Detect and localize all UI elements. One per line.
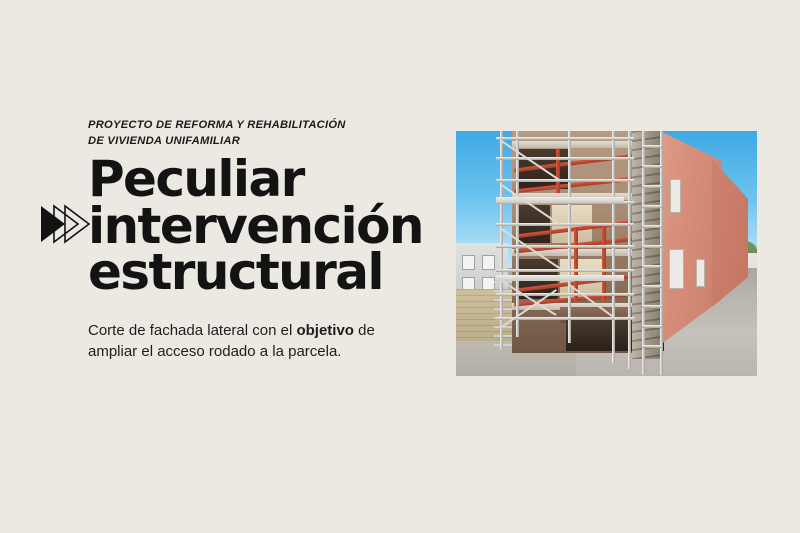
ladder-rung — [642, 325, 662, 328]
scaffold-ledger — [496, 179, 634, 182]
eyebrow-kicker: PROYECTO DE REFORMA Y REHABILITACIÓN DE … — [88, 118, 350, 150]
scaffold-ledger — [496, 245, 634, 248]
scaffold-upright — [628, 131, 631, 369]
ladder-rung — [642, 245, 662, 248]
ladder-rung — [642, 145, 662, 148]
scaffold-ledger — [496, 293, 634, 296]
ladder-rung — [642, 165, 662, 168]
ladder-rung — [642, 225, 662, 228]
ladder-rung — [642, 265, 662, 268]
scaffold-upright — [568, 131, 571, 343]
text-column: PROYECTO DE REFORMA Y REHABILITACIÓN DE … — [40, 118, 430, 363]
shoring-prop — [556, 149, 560, 193]
floor-slab — [512, 141, 638, 148]
ladder-rung — [642, 185, 662, 188]
body-line-2: ampliar el acceso rodado a la parcela. — [88, 341, 418, 362]
scaffold-ledger — [496, 269, 634, 272]
scaffold-ledger — [496, 137, 634, 140]
page-title: Peculiar intervención estructural — [88, 156, 430, 296]
ladder-rung — [642, 345, 662, 348]
ladder-rung — [642, 285, 662, 288]
scaffold-upright — [516, 131, 519, 337]
ladder-rung — [642, 205, 662, 208]
body-line-1-suffix: de — [354, 322, 375, 339]
scaffold-ledger — [496, 157, 634, 160]
building-window — [670, 179, 681, 213]
body-line-1-prefix: Corte de fachada lateral con el — [88, 322, 296, 339]
building-window — [696, 259, 705, 287]
scaffold-ledger — [496, 223, 634, 226]
scaffold-platform — [496, 197, 624, 203]
headline-row: Peculiar intervención estructural — [40, 156, 430, 296]
ladder-rung — [642, 305, 662, 308]
neighbour-window — [462, 255, 475, 270]
photo-illustration — [456, 131, 757, 376]
triple-chevron-right-icon — [40, 203, 90, 245]
body-copy: Corte de fachada lateral con el objetivo… — [88, 320, 418, 363]
shoring-prop — [602, 227, 606, 301]
building-window — [669, 249, 684, 289]
scaffold-platform — [496, 275, 624, 281]
project-photo — [456, 131, 757, 376]
neighbour-window — [482, 255, 495, 270]
slide-canvas: PROYECTO DE REFORMA Y REHABILITACIÓN DE … — [0, 0, 800, 533]
body-emphasis: objetivo — [296, 322, 354, 339]
